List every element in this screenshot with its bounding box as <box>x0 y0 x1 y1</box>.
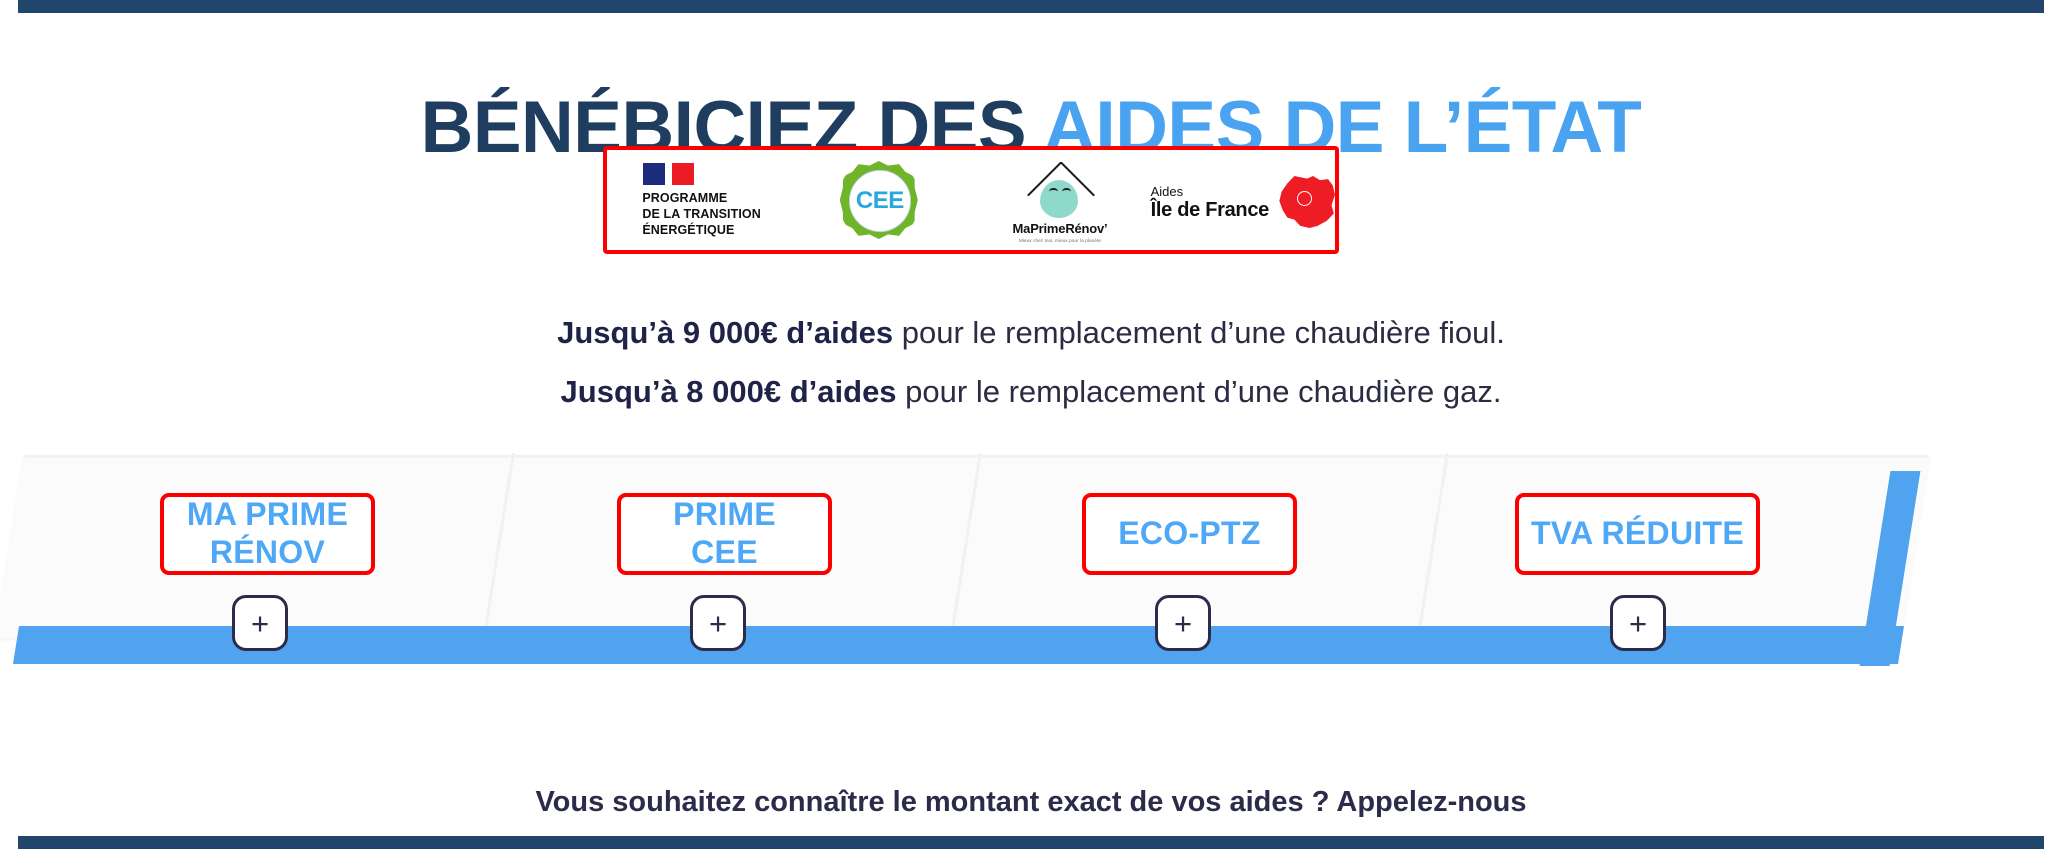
aid-amount-value-gaz: Jusqu’à 8 000€ d’aides <box>561 374 897 409</box>
plus-icon: + <box>251 608 269 639</box>
aid-amount-line-fioul: Jusqu’à 9 000€ d’aides pour le remplacem… <box>0 315 2062 351</box>
aid-card-eco-ptz[interactable]: ECO-PTZ <box>1082 493 1297 575</box>
aid-amount-value-fioul: Jusqu’à 9 000€ d’aides <box>557 315 893 350</box>
aid-card-label: ECO-PTZ <box>1118 515 1261 553</box>
french-flag-icon <box>643 163 694 185</box>
aid-amount-line-gaz: Jusqu’à 8 000€ d’aides pour le remplacem… <box>0 374 2062 410</box>
aid-card-label: PRIME CEE <box>673 496 776 572</box>
logo-aides-ile-de-france: Aides Île de France <box>1151 150 1335 250</box>
expand-button-tva-reduite[interactable]: + <box>1610 595 1666 651</box>
top-accent-bar <box>18 0 2044 13</box>
cta-text: Vous souhaitez connaître le montant exac… <box>0 786 2062 819</box>
aid-card-label: TVA RÉDUITE <box>1531 515 1744 553</box>
aid-card-ma-prime-renov[interactable]: MA PRIME RÉNOV <box>160 493 375 575</box>
partner-logo-strip: PROGRAMME DE LA TRANSITION ÉNERGÉTIQUE C… <box>603 146 1339 254</box>
plus-icon: + <box>1629 608 1647 639</box>
logo-programme-transition-energetique: PROGRAMME DE LA TRANSITION ÉNERGÉTIQUE <box>607 150 788 250</box>
plus-icon: + <box>1174 608 1192 639</box>
logo-maprimerenov-tagline: Mieux chez moi, mieux pour la planète <box>1019 238 1101 243</box>
expand-button-eco-ptz[interactable]: + <box>1155 595 1211 651</box>
aid-banner: MA PRIME RÉNOV + PRIME CEE + ECO-PTZ + T… <box>0 445 2062 675</box>
aid-amount-desc-gaz: pour le remplacement d’une chaudière gaz… <box>897 374 1502 409</box>
logo-programme-label: PROGRAMME DE LA TRANSITION ÉNERGÉTIQUE <box>642 190 761 238</box>
aid-card-prime-cee[interactable]: PRIME CEE <box>617 493 832 575</box>
ile-de-france-map-icon <box>1277 176 1335 228</box>
bottom-accent-bar <box>18 836 2044 849</box>
logo-idf-region-label: Île de France <box>1151 200 1269 220</box>
expand-button-prime-cee[interactable]: + <box>690 595 746 651</box>
plus-icon: + <box>709 608 727 639</box>
logo-maprimerenov-label: MaPrimeRénov’ <box>1013 221 1108 236</box>
aid-card-tva-reduite[interactable]: TVA RÉDUITE <box>1515 493 1760 575</box>
cee-badge-icon: CEE <box>840 161 918 239</box>
logo-idf-small-label: Aides <box>1151 185 1269 198</box>
expand-button-ma-prime-renov[interactable]: + <box>232 595 288 651</box>
aid-card-label: MA PRIME RÉNOV <box>187 496 348 572</box>
maprimerenov-house-icon <box>1022 162 1098 218</box>
logo-cee: CEE <box>788 150 969 250</box>
aid-amount-desc-fioul: pour le remplacement d’une chaudière fio… <box>893 315 1505 350</box>
logo-maprimerenov: MaPrimeRénov’ Mieux chez moi, mieux pour… <box>969 150 1150 250</box>
logo-cee-label: CEE <box>856 187 904 215</box>
